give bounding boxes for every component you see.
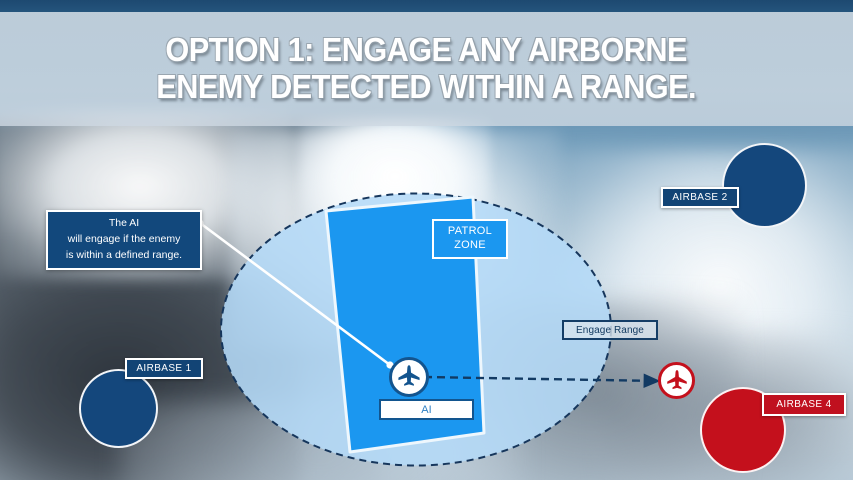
- enemy-aircraft-unit[interactable]: [658, 362, 695, 399]
- ai-behaviour-callout: The AI will engage if the enemy is withi…: [46, 210, 202, 270]
- fighter-jet-icon: [396, 364, 422, 390]
- airbase-4-label: AIRBASE 4: [762, 393, 846, 416]
- slide-title: OPTION 1: ENGAGE ANY AIRBORNE ENEMY DETE…: [119, 32, 733, 106]
- fighter-jet-icon: [665, 369, 689, 393]
- patrol-zone-label: PATROL ZONE: [432, 219, 508, 259]
- slide-canvas: The AI will engage if the enemy is withi…: [0, 0, 853, 480]
- title-band: OPTION 1: ENGAGE ANY AIRBORNE ENEMY DETE…: [0, 12, 853, 126]
- friendly-aircraft-unit[interactable]: [389, 357, 429, 397]
- top-accent-bar: [0, 0, 853, 12]
- airbase-2-circle[interactable]: [722, 143, 807, 228]
- ai-unit-label: AI: [379, 399, 474, 420]
- engage-range-label: Engage Range: [562, 320, 658, 340]
- airbase-2-label: AIRBASE 2: [661, 187, 739, 208]
- airbase-1-label: AIRBASE 1: [125, 358, 203, 379]
- airbase-1-circle[interactable]: [79, 369, 158, 448]
